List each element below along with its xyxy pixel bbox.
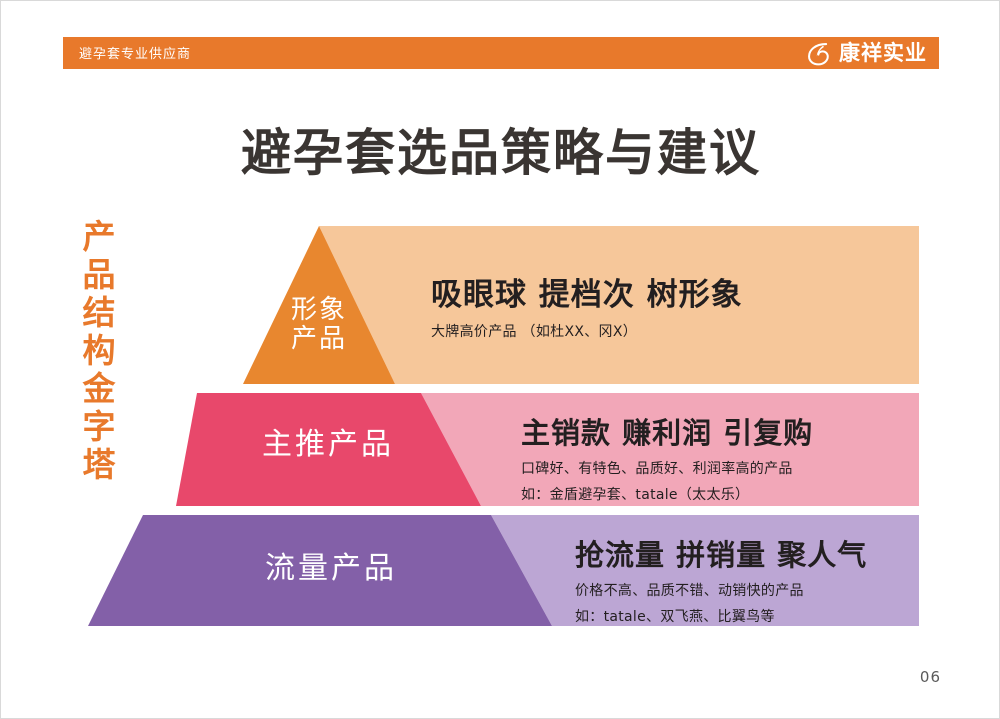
tier-3-sub-line-1: 价格不高、品质不错、动销快的产品 [575,580,867,600]
side-label-vertical: 产品结构金字塔 [61,219,113,485]
leaf-swirl-logo-icon [805,40,831,66]
tier-2-name: 主推产品 [237,428,419,461]
tier-3-band-text: 抢流量 拼销量 聚人气 价格不高、品质不错、动销快的产品 如：tatale、双飞… [575,532,867,626]
tier-1-sub-line-1: 大牌高价产品 （如杜XX、冈X） [431,321,743,341]
tier-1-band-text: 吸眼球 提档次 树形象 大牌高价产品 （如杜XX、冈X） [431,269,743,341]
brand-name: 康祥实业 [839,43,927,64]
tier-1-headline: 吸眼球 提档次 树形象 [431,269,743,314]
tier-2-sub-line-1: 口碑好、有特色、品质好、利润率高的产品 [521,458,813,478]
tier-3-name: 流量产品 [231,552,431,585]
tier-2-band-text: 主销款 赚利润 引复购 口碑好、有特色、品质好、利润率高的产品 如：金盾避孕套、… [521,410,813,504]
header-tagline: 避孕套专业供应商 [79,43,191,62]
tier-1-name: 形象 产品 [271,296,367,353]
tier-2-sub-line-2: 如：金盾避孕套、tatale（太太乐） [521,484,813,504]
brand-lockup: 康祥实业 [805,37,927,69]
page-number: 06 [920,668,941,686]
page-title: 避孕套选品策略与建议 [1,113,1000,185]
tier-3-headline: 抢流量 拼销量 聚人气 [575,532,867,574]
slide-canvas: 避孕套专业供应商 康祥实业 避孕套选品策略与建议 产品结构金字塔 形象 产品 主… [0,0,1000,719]
tier-2-headline: 主销款 赚利润 引复购 [521,410,813,452]
tier-3-sub-line-2: 如：tatale、双飞燕、比翼鸟等 [575,606,867,626]
